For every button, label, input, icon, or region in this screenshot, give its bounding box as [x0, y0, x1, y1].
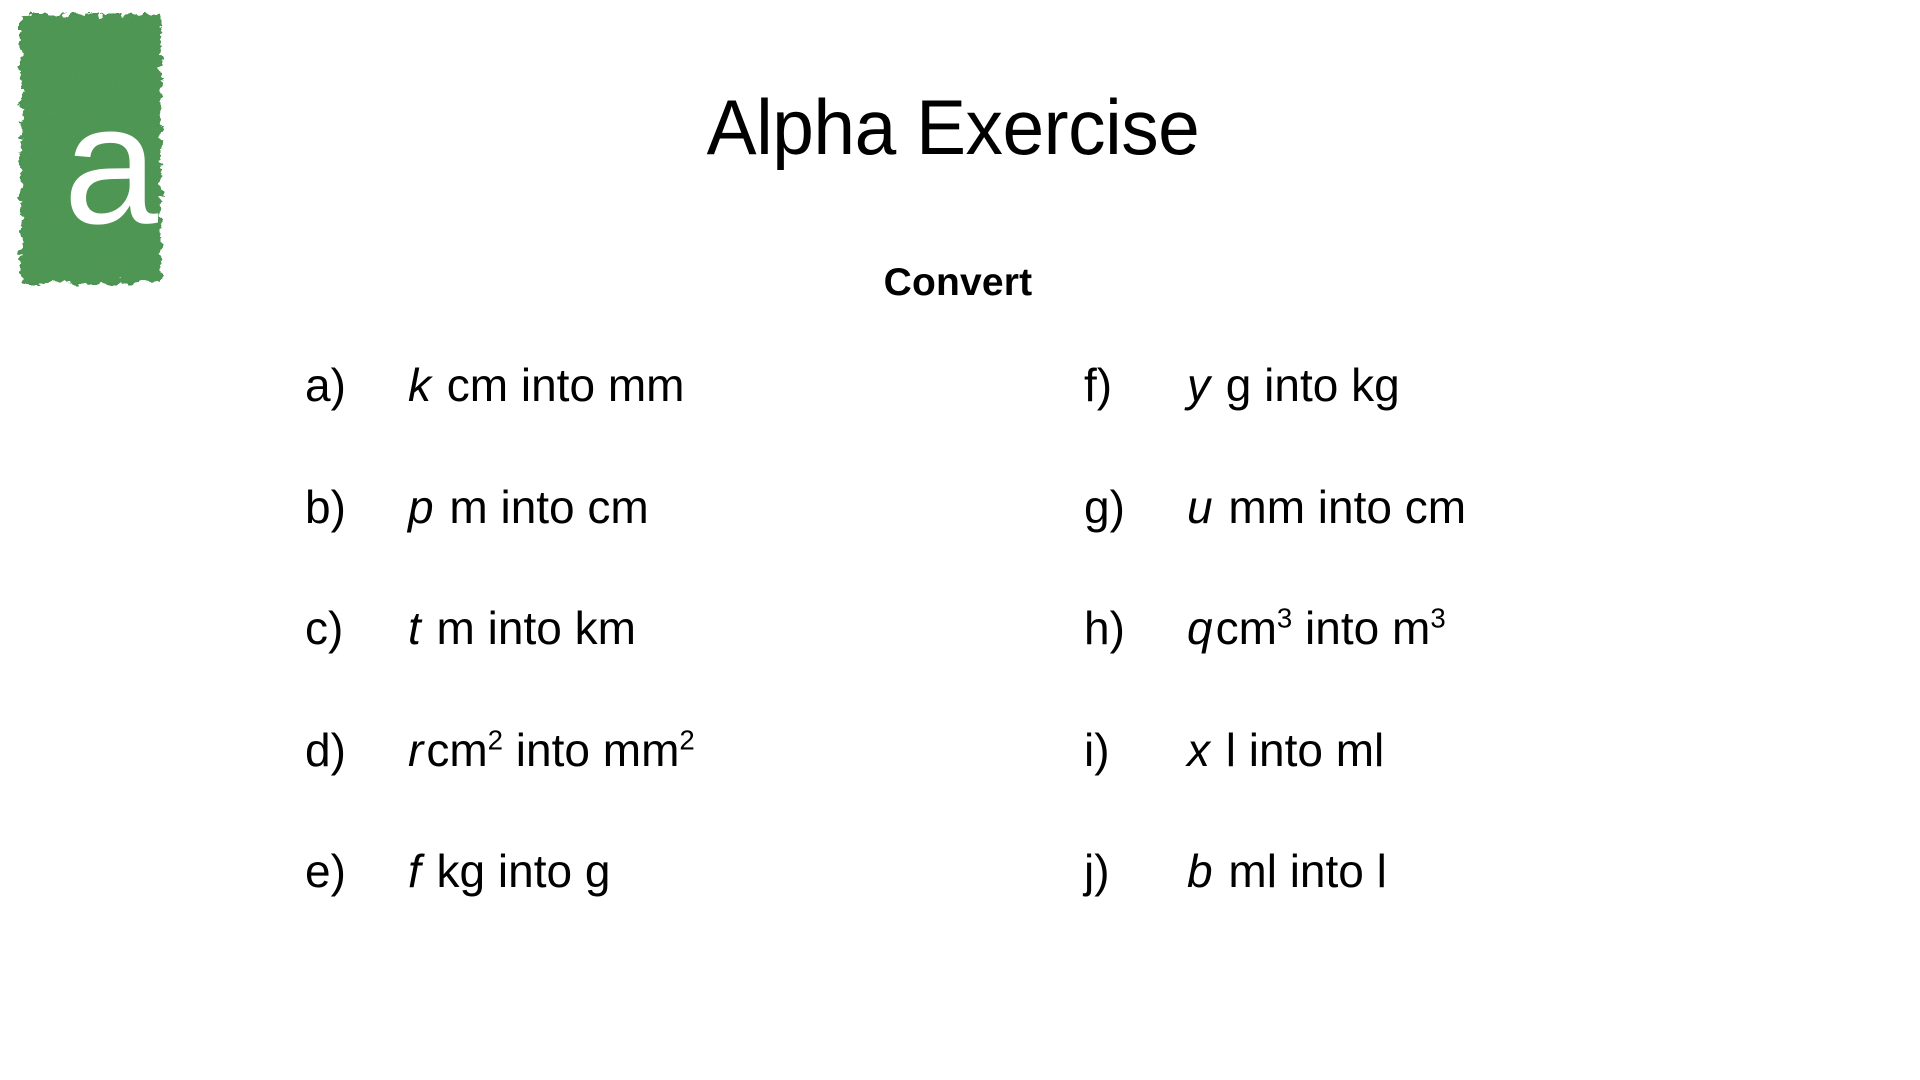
question-variable-j: b: [1187, 845, 1216, 897]
question-label-j: j): [1082, 848, 1129, 894]
question-unit-to-d: mm: [603, 724, 680, 776]
question-item-g: g) u mm into cm: [1082, 484, 1466, 606]
question-exponent-to-h: 3: [1430, 603, 1445, 634]
question-text-f: y g into kg: [1187, 362, 1400, 408]
question-units-f: g into kg: [1213, 359, 1400, 411]
question-units-a: cm into mm: [434, 359, 684, 411]
question-units-c: m into km: [424, 602, 636, 654]
question-item-h: h) qcm3 into m3: [1082, 605, 1466, 727]
question-column-right: f) y g into kg g) u mm into cm h) qcm3 i…: [1082, 362, 1466, 970]
question-text-d: rcm2 into mm2: [408, 727, 695, 773]
question-variable-d: r: [408, 724, 426, 776]
question-label-f: f): [1082, 362, 1129, 408]
question-unit-from-h: cm: [1216, 602, 1277, 654]
question-variable-f: y: [1187, 359, 1213, 411]
question-item-c: c) t m into km: [305, 605, 695, 727]
question-column-left: a) k cm into mm b) p m into cm c) t m in…: [305, 362, 695, 970]
question-item-d: d) rcm2 into mm2: [305, 727, 695, 849]
question-units-g: mm into cm: [1216, 481, 1466, 533]
question-label-b: b): [305, 484, 350, 530]
question-text-a: k cm into mm: [408, 362, 684, 408]
question-exponent-from-h: 3: [1277, 603, 1292, 634]
question-variable-a: k: [408, 359, 434, 411]
question-unit-from-d: cm: [426, 724, 487, 776]
question-units-b: m into cm: [437, 481, 649, 533]
question-list: a) k cm into mm b) p m into cm c) t m in…: [0, 362, 1920, 982]
question-item-a: a) k cm into mm: [305, 362, 695, 484]
question-variable-i: x: [1187, 724, 1213, 776]
question-label-g: g): [1082, 484, 1129, 530]
question-exponent-from-d: 2: [488, 724, 503, 755]
question-label-i: i): [1082, 727, 1129, 773]
question-variable-b: p: [408, 481, 437, 533]
question-connector-h: into: [1292, 602, 1392, 654]
question-text-h: qcm3 into m3: [1187, 605, 1446, 651]
question-label-d: d): [305, 727, 350, 773]
question-text-j: b ml into l: [1187, 848, 1387, 894]
question-text-i: x l into ml: [1187, 727, 1384, 773]
question-units-j: ml into l: [1216, 845, 1387, 897]
question-text-b: p m into cm: [408, 484, 649, 530]
question-label-h: h): [1082, 605, 1129, 651]
question-unit-to-h: m: [1392, 602, 1430, 654]
question-item-f: f) y g into kg: [1082, 362, 1466, 484]
question-connector-d: into: [503, 724, 603, 776]
question-text-g: u mm into cm: [1187, 484, 1466, 530]
question-item-j: j) b ml into l: [1082, 848, 1466, 970]
question-variable-h: q: [1187, 602, 1216, 654]
question-exponent-to-d: 2: [679, 724, 694, 755]
question-text-c: t m into km: [408, 605, 636, 651]
question-variable-c: t: [408, 602, 424, 654]
question-item-e: e) f kg into g: [305, 848, 695, 970]
question-label-e: e): [305, 848, 350, 894]
question-text-e: f kg into g: [408, 848, 610, 894]
question-variable-g: u: [1187, 481, 1216, 533]
question-item-i: i) x l into ml: [1082, 727, 1466, 849]
page-title: Alpha Exercise: [31, 88, 1874, 166]
section-heading: Convert: [0, 263, 1918, 302]
question-units-i: l into ml: [1213, 724, 1384, 776]
question-variable-e: f: [408, 845, 424, 897]
question-label-a: a): [305, 362, 350, 408]
question-label-c: c): [305, 605, 350, 651]
question-item-b: b) p m into cm: [305, 484, 695, 606]
question-units-e: kg into g: [424, 845, 611, 897]
